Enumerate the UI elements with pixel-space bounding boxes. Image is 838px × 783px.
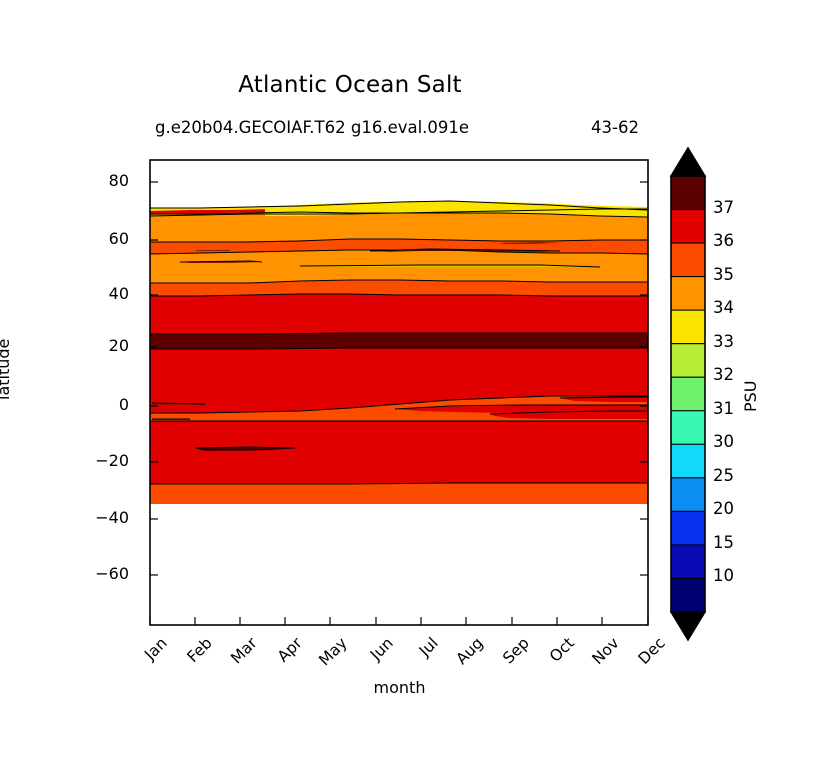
colorbar-segment	[671, 344, 705, 378]
colorbar-tick-label: 31	[713, 399, 734, 418]
colorbar-segment	[671, 478, 705, 512]
colorbar-arrow-top	[671, 148, 705, 176]
colorbar-tick-label: 15	[713, 533, 734, 552]
colorbar-tick-label: 35	[713, 265, 734, 284]
y-tick-label: 0	[85, 395, 129, 414]
y-tick-label: 60	[85, 229, 129, 248]
colorbar-tick-label: 32	[713, 365, 734, 384]
y-tick-label: 80	[85, 171, 129, 190]
colorbar-tick-label: 20	[713, 499, 734, 518]
y-tick-label: −60	[85, 564, 129, 583]
y-tick-label: −40	[85, 508, 129, 527]
colorbar-segment	[671, 176, 705, 210]
colorbar-segment	[671, 511, 705, 545]
colorbar	[671, 148, 705, 640]
band-37-plus-maroon	[150, 333, 648, 349]
colorbar-segment	[671, 210, 705, 244]
colorbar-segment	[671, 444, 705, 478]
colorbar-tick-label: 25	[713, 466, 734, 485]
colorbar-tick-label: 34	[713, 298, 734, 317]
colorbar-segment	[671, 411, 705, 445]
colorbar-arrow-bottom	[671, 612, 705, 640]
y-tick-label: 40	[85, 284, 129, 303]
colorbar-segments	[671, 176, 705, 612]
colorbar-segment	[671, 243, 705, 277]
colorbar-segment	[671, 277, 705, 311]
colorbar-tick-label: 37	[713, 198, 734, 217]
y-tick-label: −20	[85, 451, 129, 470]
y-tick-label: 20	[85, 336, 129, 355]
colorbar-tick-label: 36	[713, 231, 734, 250]
colorbar-tick-label: 33	[713, 332, 734, 351]
colorbar-segment	[671, 578, 705, 612]
x-tick-marks	[150, 617, 648, 625]
colorbar-segment	[671, 545, 705, 579]
colorbar-tick-label: 30	[713, 432, 734, 451]
colorbar-segment	[671, 310, 705, 344]
colorbar-tick-label: 10	[713, 566, 734, 585]
contour-fill-group	[150, 201, 648, 504]
colorbar-segment	[671, 377, 705, 411]
figure-canvas: Atlantic Ocean Salt g.e20b04.GECOIAF.T62…	[0, 0, 838, 783]
band-35-36-south	[150, 483, 648, 504]
filament-dark-north-b	[196, 250, 230, 251]
